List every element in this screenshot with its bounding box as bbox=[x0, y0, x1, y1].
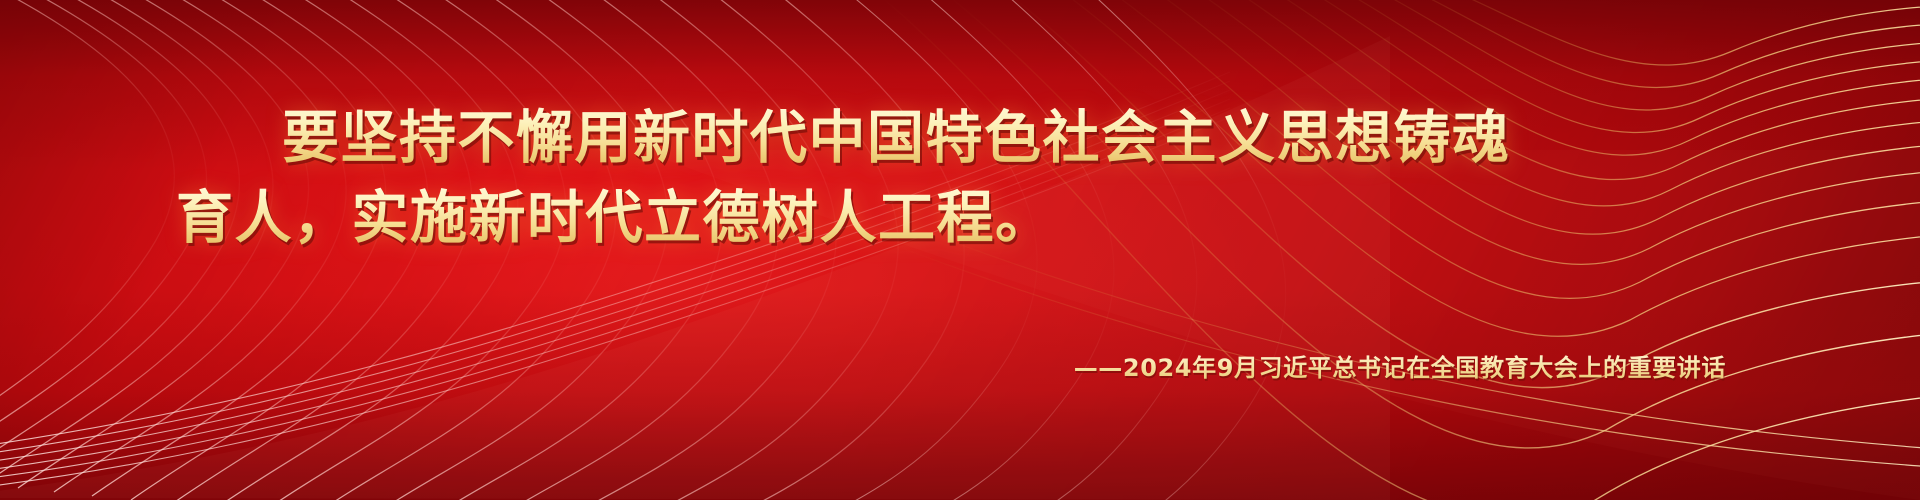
banner-root: 要坚持不懈用新时代中国特色社会主义思想铸魂 育人，实施新时代立德树人工程。 ——… bbox=[0, 0, 1920, 500]
banner-content: 要坚持不懈用新时代中国特色社会主义思想铸魂 育人，实施新时代立德树人工程。 ——… bbox=[0, 0, 1920, 500]
attribution-source: ——2024年9月习近平总书记在全国教育大会上的重要讲话 bbox=[1074, 352, 1726, 384]
title-line-2: 育人，实施新时代立德树人工程。 bbox=[0, 178, 1920, 258]
banner-title: 要坚持不懈用新时代中国特色社会主义思想铸魂 育人，实施新时代立德树人工程。 bbox=[0, 98, 1920, 258]
title-line-1: 要坚持不懈用新时代中国特色社会主义思想铸魂 bbox=[0, 98, 1920, 178]
